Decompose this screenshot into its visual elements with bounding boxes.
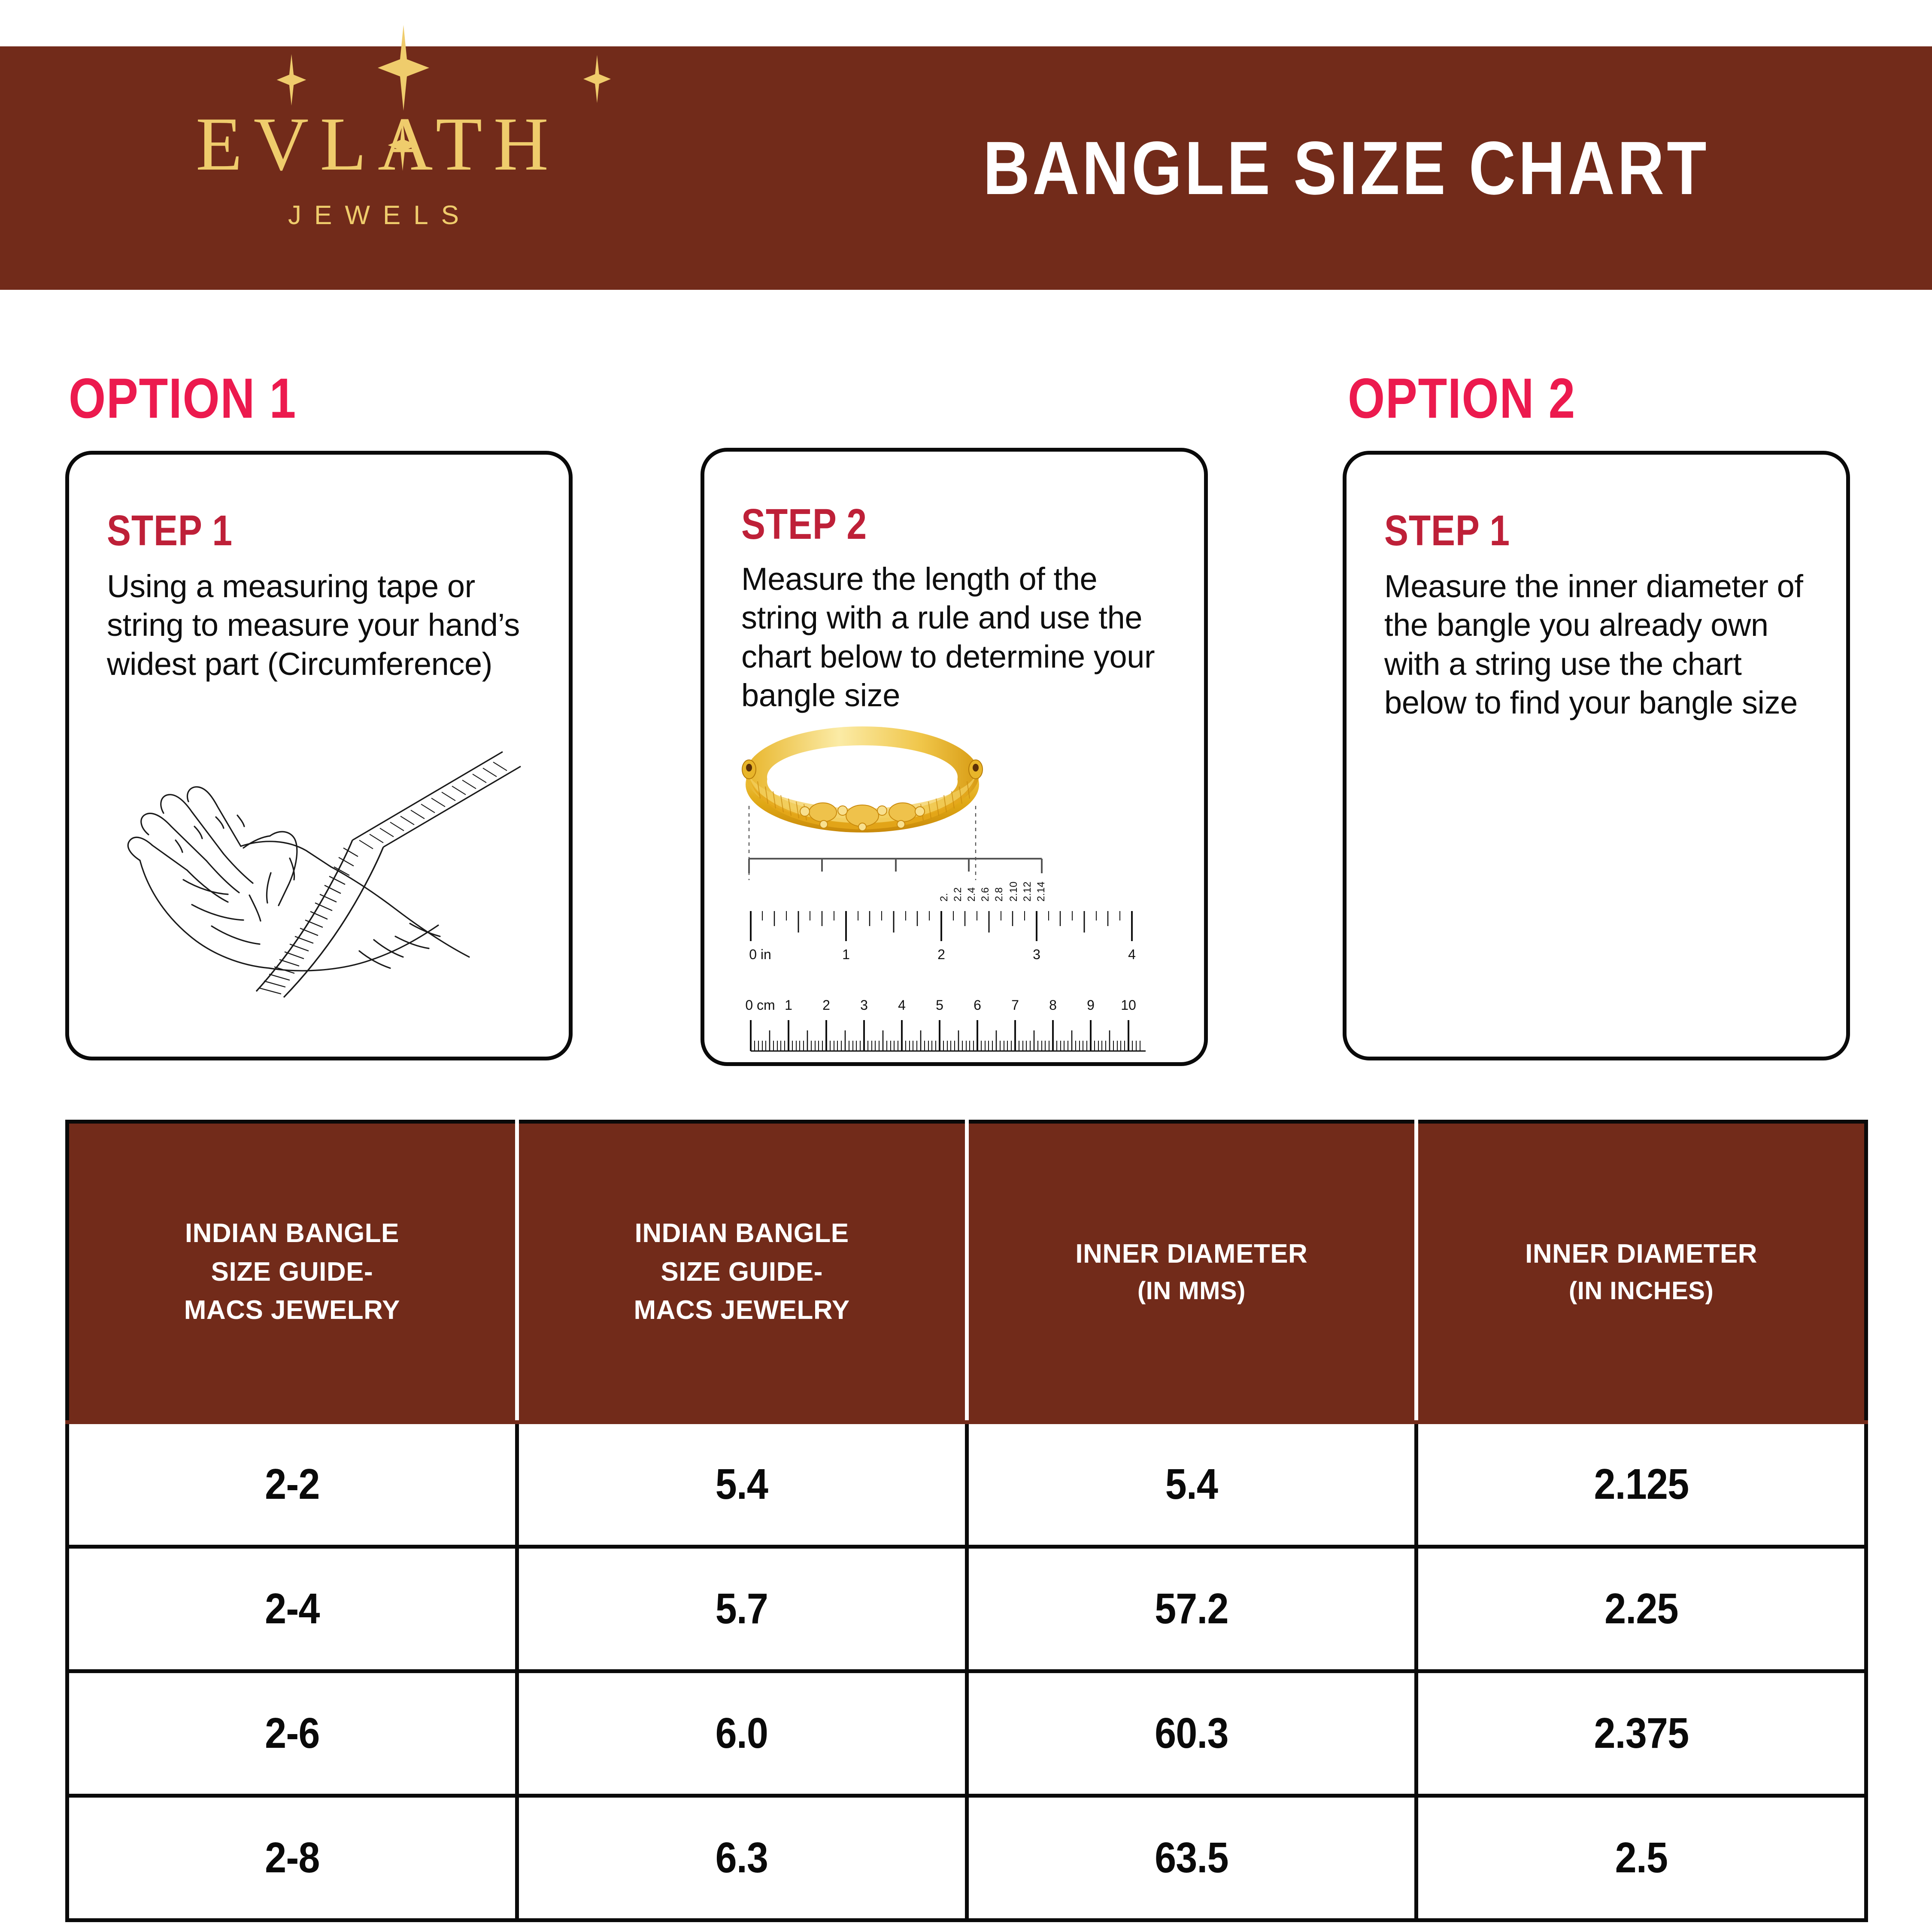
option2-step1-card: STEP 1 Measure the inner diameter of the… <box>1343 451 1850 1060</box>
cell-diameter-in: 2.375 <box>1439 1671 1844 1796</box>
header-line-3: MACS JEWELRY <box>532 1291 952 1330</box>
brand-logo: EVLATH JEWELS <box>77 58 670 277</box>
table-header-cell-0: INDIAN BANGLE SIZE GUIDE- MACS JEWELRY <box>67 1122 517 1422</box>
card2-step-body: Measure the length of the string with a … <box>741 560 1175 715</box>
cell-diameter-in: 2.125 <box>1439 1422 1844 1547</box>
sparkle-small-left-icon <box>275 54 308 106</box>
callout-labels: 2. 2.2 2.4 2.6 2.8 2.10 2.12 2.14 <box>938 881 1047 902</box>
cm-ruler: 0 cm 1 2 3 4 5 6 7 8 9 10 <box>745 997 1146 1051</box>
cell-diameter-mm: 60.3 <box>989 1671 1394 1796</box>
header-line-2: SIZE GUIDE- <box>532 1253 952 1291</box>
svg-text:9: 9 <box>1087 997 1095 1013</box>
card1-step-title: STEP 1 <box>107 506 233 556</box>
svg-text:10: 10 <box>1121 997 1136 1013</box>
cell-size-guide: 6.3 <box>540 1796 944 1920</box>
table-row: 2-4 5.7 57.2 2.25 <box>67 1547 1866 1671</box>
gold-bangle <box>742 726 983 832</box>
cell-size-indian: 2-8 <box>90 1796 494 1920</box>
cell-size-guide: 5.4 <box>540 1422 944 1547</box>
svg-text:0 cm: 0 cm <box>745 997 775 1013</box>
page-title: BANGLE SIZE CHART <box>983 46 1884 290</box>
svg-text:4: 4 <box>1128 947 1136 962</box>
table-head: INDIAN BANGLE SIZE GUIDE- MACS JEWELRY I… <box>67 1122 1866 1422</box>
cell-diameter-mm: 63.5 <box>989 1796 1394 1920</box>
table-row: 2-6 6.0 60.3 2.375 <box>67 1671 1866 1796</box>
sparkle-small-right-icon <box>582 55 613 103</box>
header-line-2: (IN MMS) <box>982 1273 1402 1309</box>
page-header: EVLATH JEWELS BANGLE SIZE CHART <box>0 46 1932 290</box>
svg-text:6: 6 <box>974 997 981 1013</box>
bangle-size-chart-page: EVLATH JEWELS BANGLE SIZE CHART OPTION 1… <box>0 0 1932 1932</box>
svg-text:2.10: 2.10 <box>1008 881 1019 902</box>
svg-text:2.6: 2.6 <box>980 887 991 902</box>
cell-size-guide: 5.7 <box>540 1547 944 1671</box>
cell-size-indian: 2-4 <box>90 1547 494 1671</box>
brand-name: EVLATH <box>187 106 560 182</box>
svg-text:3: 3 <box>860 997 868 1013</box>
svg-text:1: 1 <box>842 947 850 962</box>
svg-text:2.: 2. <box>938 893 950 902</box>
table-header-cell-3: INNER DIAMETER (IN INCHES) <box>1416 1122 1866 1422</box>
header-line-2: (IN INCHES) <box>1431 1273 1851 1309</box>
cell-diameter-mm: 5.4 <box>989 1422 1394 1547</box>
option1-step2-card: STEP 2 Measure the length of the string … <box>701 448 1208 1066</box>
option-1-label: OPTION 1 <box>69 366 297 431</box>
table-body: 2-2 5.4 5.4 2.125 2-4 5.7 57.2 2.25 2-6 … <box>67 1422 1866 1920</box>
card1-step-body: Using a measuring tape or string to meas… <box>107 567 540 683</box>
bangle-ruler-illustration: 2. 2.2 2.4 2.6 2.8 2.10 2.12 2.14 <box>721 709 1193 1061</box>
brand-subtitle: JEWELS <box>275 200 472 231</box>
header-line-1: INNER DIAMETER <box>982 1235 1402 1273</box>
header-line-1: INDIAN BANGLE <box>532 1214 952 1253</box>
cell-diameter-in: 2.25 <box>1439 1547 1844 1671</box>
header-line-3: MACS JEWELRY <box>82 1291 502 1330</box>
cell-diameter-in: 2.5 <box>1439 1796 1844 1920</box>
svg-text:1: 1 <box>785 997 792 1013</box>
option-2-label: OPTION 2 <box>1348 366 1576 431</box>
table-row: 2-8 6.3 63.5 2.5 <box>67 1796 1866 1920</box>
span-bracket <box>749 859 1042 873</box>
table-header-cell-2: INNER DIAMETER (IN MMS) <box>967 1122 1416 1422</box>
svg-text:2: 2 <box>937 947 945 962</box>
table-row: 2-2 5.4 5.4 2.125 <box>67 1422 1866 1547</box>
svg-text:7: 7 <box>1011 997 1019 1013</box>
cell-size-guide: 6.0 <box>540 1671 944 1796</box>
card3-step-body: Measure the inner diameter of the bangle… <box>1384 567 1818 722</box>
svg-text:2: 2 <box>822 997 830 1013</box>
table-header-cell-1: INDIAN BANGLE SIZE GUIDE- MACS JEWELRY <box>517 1122 967 1422</box>
cell-size-indian: 2-2 <box>90 1422 494 1547</box>
option1-step1-card: STEP 1 Using a measuring tape or string … <box>65 451 573 1060</box>
svg-text:2.14: 2.14 <box>1035 881 1047 902</box>
cell-diameter-mm: 57.2 <box>989 1547 1394 1671</box>
table-header-row: INDIAN BANGLE SIZE GUIDE- MACS JEWELRY I… <box>67 1122 1866 1422</box>
inch-ruler: 0 in 1 2 3 4 <box>749 911 1136 962</box>
svg-text:2.4: 2.4 <box>966 887 977 902</box>
svg-text:3: 3 <box>1033 947 1040 962</box>
svg-text:5: 5 <box>936 997 943 1013</box>
svg-text:2.2: 2.2 <box>952 887 964 902</box>
sparkle-large-icon <box>378 25 429 111</box>
svg-text:0 in: 0 in <box>749 947 771 962</box>
header-line-1: INDIAN BANGLE <box>82 1214 502 1253</box>
card3-step-title: STEP 1 <box>1384 506 1510 556</box>
header-line-2: SIZE GUIDE- <box>82 1253 502 1291</box>
header-line-1: INNER DIAMETER <box>1431 1235 1851 1273</box>
svg-text:4: 4 <box>898 997 906 1013</box>
svg-text:2.8: 2.8 <box>993 887 1005 902</box>
page-title-text: BANGLE SIZE CHART <box>983 125 1709 212</box>
cell-size-indian: 2-6 <box>90 1671 494 1796</box>
hand-measuring-tape-illustration <box>99 725 533 1026</box>
card2-step-title: STEP 2 <box>741 500 867 549</box>
svg-text:8: 8 <box>1049 997 1057 1013</box>
svg-text:2.12: 2.12 <box>1022 881 1033 902</box>
bangle-size-table: INDIAN BANGLE SIZE GUIDE- MACS JEWELRY I… <box>65 1120 1868 1922</box>
